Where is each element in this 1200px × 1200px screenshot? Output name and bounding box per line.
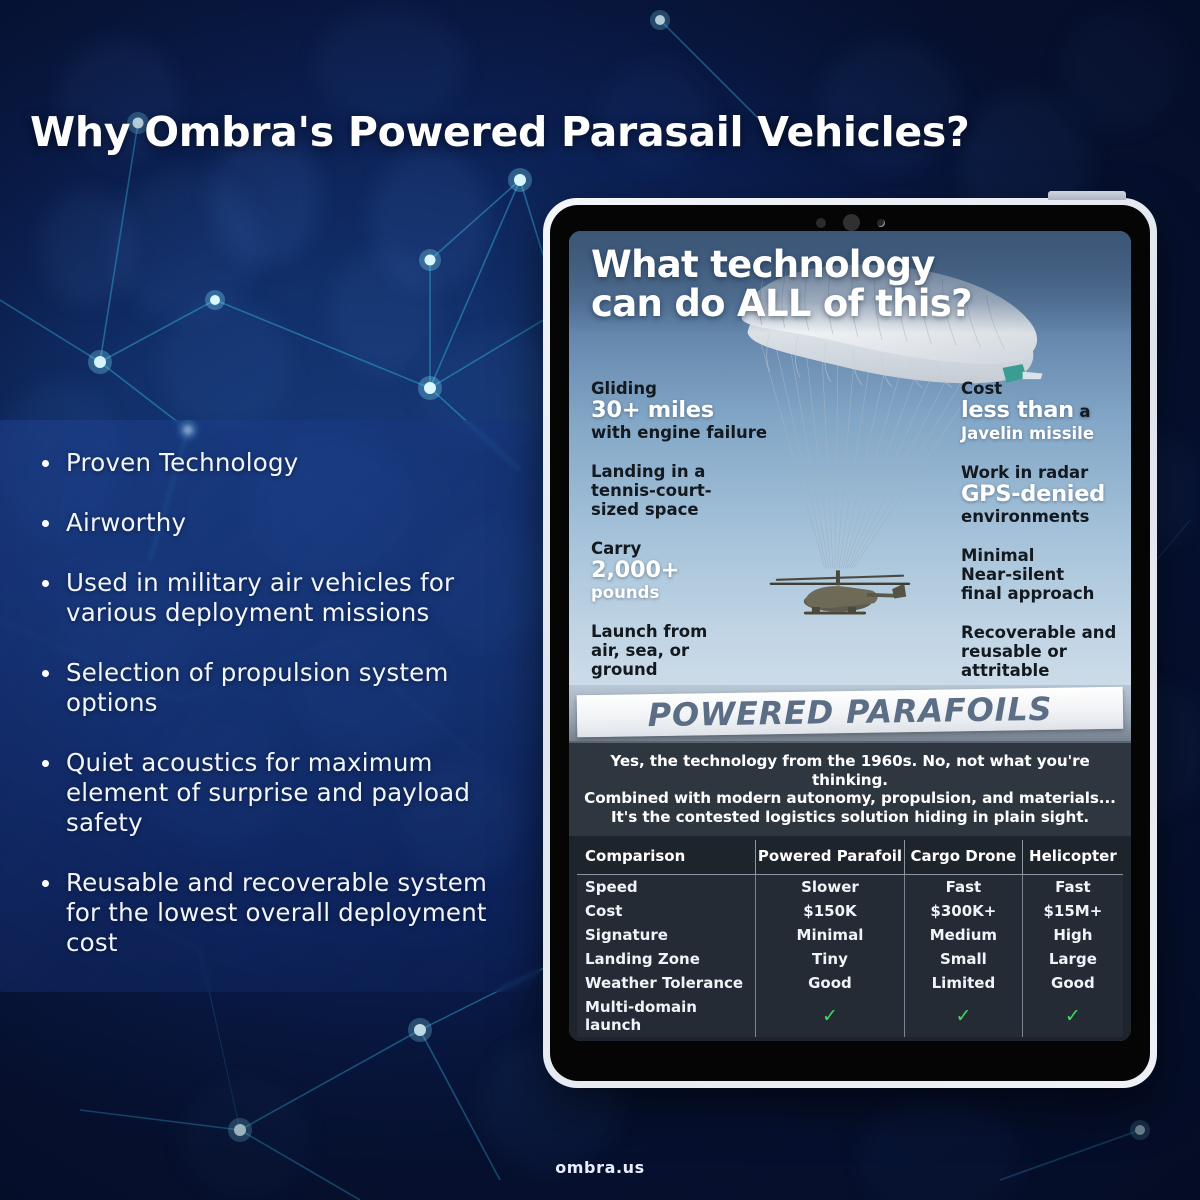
feature-landing: Landing in a tennis-court- sized space	[591, 462, 775, 519]
caption-line-2: Combined with modern autonomy, propulsio…	[581, 789, 1119, 808]
list-item: Proven Technology	[40, 448, 510, 478]
check-icon: ✓	[905, 995, 1023, 1037]
table-row: Cost $150K $300K+ $15M+	[577, 899, 1123, 923]
list-item: Quiet acoustics for maximum element of s…	[40, 748, 510, 838]
table-header-cargo-drone: Cargo Drone	[905, 840, 1023, 875]
cell-value: Fast	[1022, 875, 1123, 900]
table-row: Signature Minimal Medium High	[577, 923, 1123, 947]
feature-recoverable: Recoverable and reusable or attritable	[961, 623, 1117, 680]
row-label: Speed	[577, 875, 755, 900]
feature-cost: Cost less than a Javelin missile	[961, 379, 1117, 443]
comparison-table-wrap: Comparison Powered Parafoil Cargo Drone …	[569, 836, 1131, 1041]
table-row: Landing Zone Tiny Small Large	[577, 947, 1123, 971]
feature-detail: pounds	[591, 583, 775, 602]
check-icon: ✓	[755, 995, 904, 1037]
bullet-text: Reusable and recoverable system for the …	[66, 868, 487, 957]
table-row: Speed Slower Fast Fast	[577, 875, 1123, 900]
power-button[interactable]	[1048, 191, 1126, 200]
feature-gliding: Gliding 30+ miles with engine failure	[591, 379, 775, 442]
sensor-dot-large-icon	[843, 214, 860, 231]
feature-label: Launch from	[591, 622, 775, 641]
cell-value: Tiny	[755, 947, 904, 971]
feature-detail: with engine failure	[591, 423, 775, 442]
feature-label: Recoverable and	[961, 623, 1117, 642]
footer-url[interactable]: ombra.us	[0, 1158, 1200, 1177]
feature-value: 2,000+	[591, 558, 775, 583]
cell-value: Good	[1022, 971, 1123, 995]
feature-carry: Carry 2,000+ pounds	[591, 539, 775, 602]
feature-detail: air, sea, or ground	[591, 641, 775, 679]
cell-value: $150K	[755, 899, 904, 923]
table-header-helicopter: Helicopter	[1022, 840, 1123, 875]
heading-line-2: can do ALL of this?	[591, 284, 1111, 323]
table-row: Weather Tolerance Good Limited Good	[577, 971, 1123, 995]
caption-line-3: It's the contested logistics solution hi…	[581, 808, 1119, 827]
list-item: Selection of propulsion system options	[40, 658, 510, 718]
tablet-device: What technology can do ALL of this? Glid…	[543, 198, 1157, 1088]
cell-value: Minimal	[755, 923, 904, 947]
table-header-row: Comparison Powered Parafoil Cargo Drone …	[577, 840, 1123, 875]
table-body: Speed Slower Fast Fast Cost $150K $300K+…	[577, 875, 1123, 1038]
feature-value-suffix: a	[1074, 402, 1090, 421]
cell-value: $300K+	[905, 899, 1023, 923]
check-icon: ✓	[1022, 995, 1123, 1037]
table-header-powered-parafoil: Powered Parafoil	[755, 840, 904, 875]
infographic-hero: What technology can do ALL of this? Glid…	[569, 231, 1131, 685]
feature-column-left: Gliding 30+ miles with engine failure La…	[591, 379, 775, 685]
benefits-list: Proven Technology Airworthy Used in mili…	[40, 448, 510, 958]
sensor-array	[550, 214, 1150, 231]
sensor-dot-small-icon	[816, 218, 826, 228]
row-label: Weather Tolerance	[577, 971, 755, 995]
feature-gps: Work in radar GPS-denied environments	[961, 463, 1117, 526]
powered-parafoils-banner: POWERED PARAFOILS	[577, 686, 1124, 737]
feature-detail: reusable or attritable	[961, 642, 1117, 680]
feature-acoustic: Minimal Near-silent final approach	[961, 546, 1117, 603]
infographic-heading: What technology can do ALL of this?	[569, 231, 1131, 333]
benefits-panel: Proven Technology Airworthy Used in mili…	[0, 420, 540, 992]
tablet-screen-frame: What technology can do ALL of this? Glid…	[550, 205, 1150, 1081]
infographic: What technology can do ALL of this? Glid…	[569, 231, 1131, 1041]
feature-column-right: Cost less than a Javelin missile Work in…	[961, 379, 1117, 685]
row-label: Landing Zone	[577, 947, 755, 971]
row-label: Signature	[577, 923, 755, 947]
table-head: Comparison Powered Parafoil Cargo Drone …	[577, 840, 1123, 875]
cell-value: Limited	[905, 971, 1023, 995]
caption-line-1: Yes, the technology from the 1960s. No, …	[581, 752, 1119, 789]
feature-value: 30+ miles	[591, 398, 775, 423]
cell-value: Large	[1022, 947, 1123, 971]
feature-detail: environments	[961, 507, 1117, 526]
feature-detail: Near-silent final approach	[961, 565, 1117, 603]
bullet-text: Used in military air vehicles for variou…	[66, 568, 454, 627]
feature-value-main: less than	[961, 397, 1074, 423]
feature-detail: tennis-court- sized space	[591, 481, 775, 519]
feature-label: Work in radar	[961, 463, 1117, 482]
bullet-text: Airworthy	[66, 508, 186, 537]
cell-value: High	[1022, 923, 1123, 947]
feature-label: Cost	[961, 379, 1117, 398]
feature-value: GPS-denied	[961, 482, 1117, 507]
cell-value: $15M+	[1022, 899, 1123, 923]
list-item: Reusable and recoverable system for the …	[40, 868, 510, 958]
banner-region: POWERED PARAFOILS	[569, 685, 1131, 741]
table-row: Multi-domain launch ✓ ✓ ✓	[577, 995, 1123, 1037]
banner-text: POWERED PARAFOILS	[647, 690, 1052, 734]
feature-value: less than a	[961, 398, 1117, 424]
cell-value: Medium	[905, 923, 1023, 947]
feature-detail: Javelin missile	[961, 424, 1117, 443]
list-item: Used in military air vehicles for variou…	[40, 568, 510, 628]
bullet-text: Proven Technology	[66, 448, 298, 477]
cell-value: Good	[755, 971, 904, 995]
feature-launch: Launch from air, sea, or ground	[591, 622, 775, 679]
feature-label: Minimal	[961, 546, 1117, 565]
front-camera-icon	[877, 219, 885, 227]
comparison-table: Comparison Powered Parafoil Cargo Drone …	[577, 840, 1123, 1037]
bullet-text: Quiet acoustics for maximum element of s…	[66, 748, 470, 837]
cell-value: Slower	[755, 875, 904, 900]
caption-block: Yes, the technology from the 1960s. No, …	[569, 741, 1131, 836]
feature-label: Landing in a	[591, 462, 775, 481]
row-label: Multi-domain launch	[577, 995, 755, 1037]
bullet-text: Selection of propulsion system options	[66, 658, 449, 717]
list-item: Airworthy	[40, 508, 510, 538]
feature-label: Gliding	[591, 379, 775, 398]
heading-line-1: What technology	[591, 245, 1111, 284]
feature-label: Carry	[591, 539, 775, 558]
cell-value: Fast	[905, 875, 1023, 900]
table-header-comparison: Comparison	[577, 840, 755, 875]
page-title: Why Ombra's Powered Parasail Vehicles?	[30, 108, 1110, 156]
row-label: Cost	[577, 899, 755, 923]
cell-value: Small	[905, 947, 1023, 971]
